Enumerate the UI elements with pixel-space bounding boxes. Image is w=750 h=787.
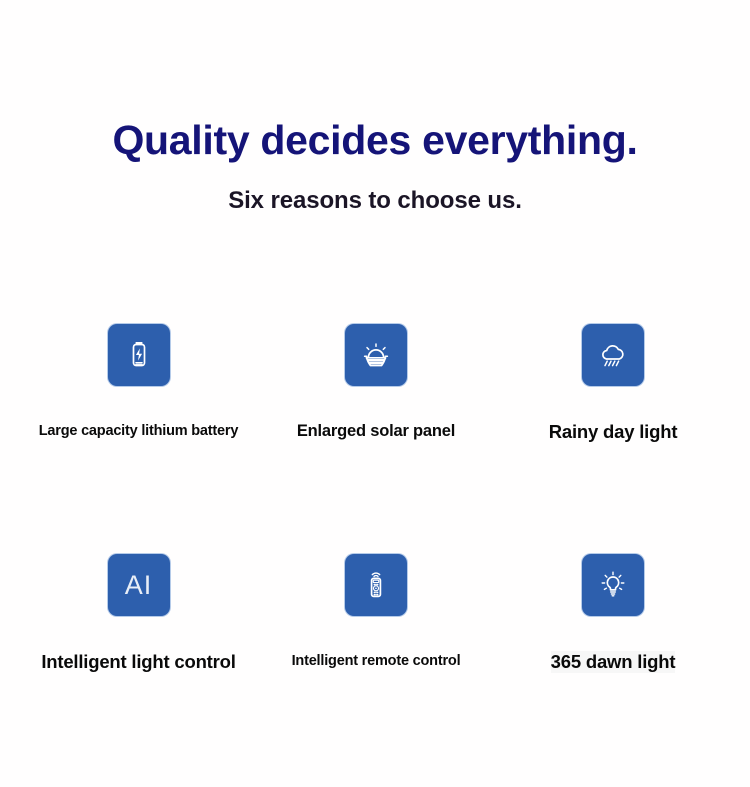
sun-solar-panel-icon — [345, 324, 407, 386]
heading-block: Quality decides everything. Six reasons … — [0, 118, 750, 215]
remote-control-icon — [345, 554, 407, 616]
feature-label: Intelligent light control — [41, 651, 235, 673]
feature-item-remote-control[interactable]: Intelligent remote control — [262, 540, 490, 670]
battery-charging-icon — [108, 324, 170, 386]
rain-cloud-icon — [582, 324, 644, 386]
feature-label: 365 dawn light — [551, 651, 676, 673]
page-title: Quality decides everything. — [0, 118, 750, 164]
feature-grid: Large capacity lithium battery — [0, 310, 750, 770]
feature-item-light-control[interactable]: AI Intelligent light control — [0, 540, 277, 673]
feature-label: Rainy day light — [549, 421, 678, 443]
ai-icon-label: AI — [125, 572, 153, 599]
feature-item-rainy-day[interactable]: Rainy day light — [495, 310, 731, 443]
feature-label: Large capacity lithium battery — [39, 423, 238, 439]
feature-item-dawn-light[interactable]: 365 dawn light — [495, 540, 731, 673]
feature-row: AI Intelligent light control — [0, 540, 750, 770]
feature-label: Enlarged solar panel — [297, 422, 455, 441]
feature-label: Intelligent remote control — [292, 653, 461, 669]
promo-banner: Quality decides everything. Six reasons … — [0, 0, 750, 787]
light-bulb-icon — [582, 554, 644, 616]
feature-row: Large capacity lithium battery — [0, 310, 750, 540]
feature-item-solar-panel[interactable]: Enlarged solar panel — [262, 310, 490, 441]
page-subtitle: Six reasons to choose us. — [0, 187, 750, 215]
ai-text-icon: AI — [108, 554, 170, 616]
feature-item-battery[interactable]: Large capacity lithium battery — [0, 310, 277, 440]
